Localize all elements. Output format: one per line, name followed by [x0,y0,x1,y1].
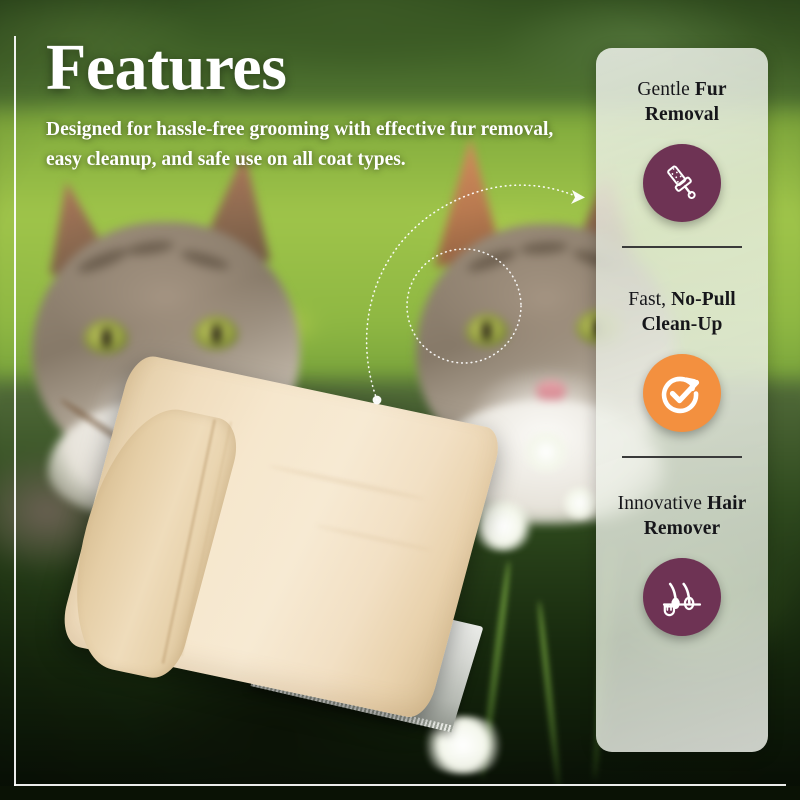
frame-line-bottom [14,784,786,786]
headline-block: Features Designed for hassle-free groomi… [46,36,566,175]
flower-4 [560,486,600,520]
feature-item-gentle-fur-removal: Gentle Fur Removal [606,78,758,222]
features-poster: Features Designed for hassle-free groomi… [0,0,800,800]
feature-title-3-lead: Innovative [618,493,707,514]
feature-panel: Gentle Fur Removal [596,48,768,752]
refresh-check-icon [643,354,721,432]
frame-line-left [14,36,16,786]
cat-right-pupil-left [482,321,491,341]
feature-title-1-lead: Gentle [637,79,695,100]
cat-right-nose [536,380,566,402]
feature-title-3: Innovative Hair Remover [606,492,758,542]
feature-divider-2 [622,456,742,458]
frame-bottom-bar [0,786,800,800]
hair-follicle-icon [643,558,721,636]
cat-left-pupil-left [102,328,111,348]
feature-divider-1 [622,246,742,248]
feature-title-1: Gentle Fur Removal [606,78,758,128]
lint-brush-icon [643,144,721,222]
feature-item-innovative-hair-remover: Innovative Hair Remover [606,492,758,636]
page-title: Features [46,36,566,101]
feature-title-2-lead: Fast, [628,289,671,310]
product-image [61,350,514,785]
feature-title-2: Fast, No-Pull Clean-Up [606,288,758,338]
flower-2 [520,430,572,474]
page-subtitle: Designed for hassle-free grooming with e… [46,115,566,175]
cat-left-pupil-right [212,324,221,344]
feature-item-fast-no-pull-clean-up: Fast, No-Pull Clean-Up [606,288,758,432]
